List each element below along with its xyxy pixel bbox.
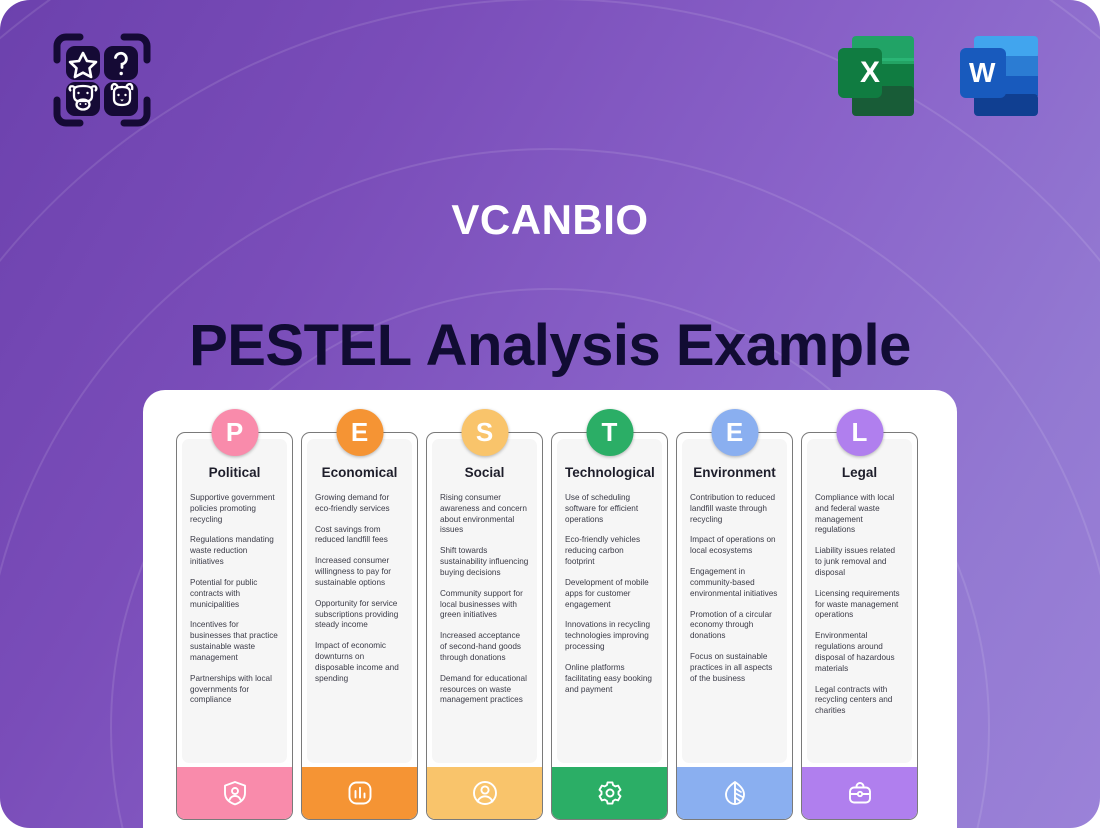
pestel-column-heading: Environment bbox=[690, 465, 779, 480]
pestel-item: Rising consumer awareness and concern ab… bbox=[440, 493, 529, 536]
pestel-item: Incentives for businesses that practice … bbox=[190, 620, 279, 663]
quiz-animals-logo bbox=[50, 30, 154, 130]
pestel-column-footer bbox=[552, 767, 667, 819]
office-icons-group: X W bbox=[830, 28, 1050, 124]
pestel-item: Supportive government policies promoting… bbox=[190, 493, 279, 525]
pestel-item: Eco-friendly vehicles reducing carbon fo… bbox=[565, 535, 654, 567]
pestel-column-heading: Legal bbox=[815, 465, 904, 480]
pestel-item: Promotion of a circular economy through … bbox=[690, 610, 779, 642]
excel-icon: X bbox=[830, 28, 926, 124]
pestel-item: Use of scheduling software for efficient… bbox=[565, 493, 654, 525]
word-icon: W bbox=[954, 28, 1050, 124]
pestel-letter-badge: T bbox=[586, 409, 633, 456]
pestel-column-body: SocialRising consumer awareness and conc… bbox=[432, 439, 537, 763]
pestel-column-heading: Economical bbox=[315, 465, 404, 480]
pestel-column-body: PoliticalSupportive government policies … bbox=[182, 439, 287, 763]
page-title-rest: Analysis Example bbox=[426, 313, 911, 378]
pestel-item: Innovations in recycling technologies im… bbox=[565, 620, 654, 652]
pestel-item: Online platforms facilitating easy booki… bbox=[565, 663, 654, 695]
pestel-column-social[interactable]: SSocialRising consumer awareness and con… bbox=[426, 432, 543, 820]
pestel-letter-badge: L bbox=[836, 409, 883, 456]
pestel-item-list: Growing demand for eco-friendly services… bbox=[315, 493, 404, 685]
pestel-column-economical[interactable]: EEconomicalGrowing demand for eco-friend… bbox=[301, 432, 418, 820]
pestel-item: Increased consumer willingness to pay fo… bbox=[315, 556, 404, 588]
pestel-letter-badge: P bbox=[211, 409, 258, 456]
pestel-column-footer bbox=[677, 767, 792, 819]
pestel-item: Liability issues related to junk removal… bbox=[815, 546, 904, 578]
pestel-item: Impact of operations on local ecosystems bbox=[690, 535, 779, 557]
pestel-item: Community support for local businesses w… bbox=[440, 589, 529, 621]
pestel-item: Development of mobile apps for customer … bbox=[565, 578, 654, 610]
page-title: PESTELAnalysis Example bbox=[0, 312, 1100, 379]
pestel-columns: PPoliticalSupportive government policies… bbox=[176, 432, 924, 820]
pestel-column-footer bbox=[177, 767, 292, 819]
company-title: VCANBIO bbox=[0, 196, 1100, 244]
person-circle-icon bbox=[471, 779, 499, 807]
pestel-item: Legal contracts with recycling centers a… bbox=[815, 685, 904, 717]
gear-icon bbox=[596, 779, 624, 807]
pestel-item: Engagement in community-based environmen… bbox=[690, 567, 779, 599]
pestel-column-heading: Technological bbox=[565, 465, 654, 480]
pestel-item: Focus on sustainable practices in all as… bbox=[690, 652, 779, 684]
briefcase-icon bbox=[846, 779, 874, 807]
pestel-item: Potential for public contracts with muni… bbox=[190, 578, 279, 610]
pestel-letter-badge: E bbox=[336, 409, 383, 456]
bar-chart-icon bbox=[346, 779, 374, 807]
pestel-item: Shift towards sustainability influencing… bbox=[440, 546, 529, 578]
pestel-column-political[interactable]: PPoliticalSupportive government policies… bbox=[176, 432, 293, 820]
pestel-column-technological[interactable]: TTechnologicalUse of scheduling software… bbox=[551, 432, 668, 820]
pestel-item: Compliance with local and federal waste … bbox=[815, 493, 904, 536]
pestel-column-footer bbox=[427, 767, 542, 819]
pestel-column-body: LegalCompliance with local and federal w… bbox=[807, 439, 912, 763]
svg-text:W: W bbox=[969, 57, 996, 88]
pestel-item-list: Use of scheduling software for efficient… bbox=[565, 493, 654, 695]
pestel-item: Partnerships with local governments for … bbox=[190, 674, 279, 706]
pestel-letter-badge: E bbox=[711, 409, 758, 456]
pestel-item-list: Contribution to reduced landfill waste t… bbox=[690, 493, 779, 685]
pestel-column-body: TechnologicalUse of scheduling software … bbox=[557, 439, 662, 763]
pestel-item: Licensing requirements for waste managem… bbox=[815, 589, 904, 621]
pestel-item-list: Rising consumer awareness and concern ab… bbox=[440, 493, 529, 706]
pestel-item: Cost savings from reduced landfill fees bbox=[315, 525, 404, 547]
pestel-column-body: EnvironmentContribution to reduced landf… bbox=[682, 439, 787, 763]
pestel-item: Increased acceptance of second-hand good… bbox=[440, 631, 529, 663]
pestel-column-heading: Political bbox=[190, 465, 279, 480]
pestel-item-list: Supportive government policies promoting… bbox=[190, 493, 279, 706]
pestel-item: Contribution to reduced landfill waste t… bbox=[690, 493, 779, 525]
shield-person-icon bbox=[221, 779, 249, 807]
pestel-item: Regulations mandating waste reduction in… bbox=[190, 535, 279, 567]
pestel-column-footer bbox=[302, 767, 417, 819]
leaf-icon bbox=[721, 779, 749, 807]
pestel-item: Impact of economic downturns on disposab… bbox=[315, 641, 404, 684]
pestel-card: PPoliticalSupportive government policies… bbox=[143, 390, 957, 828]
pestel-column-heading: Social bbox=[440, 465, 529, 480]
pestel-column-legal[interactable]: LLegalCompliance with local and federal … bbox=[801, 432, 918, 820]
poster-canvas: X W VCANBIO PESTELAnalysis Example PPoli… bbox=[0, 0, 1100, 828]
pestel-item: Growing demand for eco-friendly services bbox=[315, 493, 404, 515]
pestel-item: Opportunity for service subscriptions pr… bbox=[315, 599, 404, 631]
page-title-bold: PESTEL bbox=[189, 313, 412, 378]
pestel-item: Environmental regulations around disposa… bbox=[815, 631, 904, 674]
pestel-letter-badge: S bbox=[461, 409, 508, 456]
pestel-column-environment[interactable]: EEnvironmentContribution to reduced land… bbox=[676, 432, 793, 820]
pestel-item: Demand for educational resources on wast… bbox=[440, 674, 529, 706]
pestel-column-footer bbox=[802, 767, 917, 819]
pestel-item-list: Compliance with local and federal waste … bbox=[815, 493, 904, 717]
svg-text:X: X bbox=[860, 56, 880, 89]
pestel-column-body: EconomicalGrowing demand for eco-friendl… bbox=[307, 439, 412, 763]
